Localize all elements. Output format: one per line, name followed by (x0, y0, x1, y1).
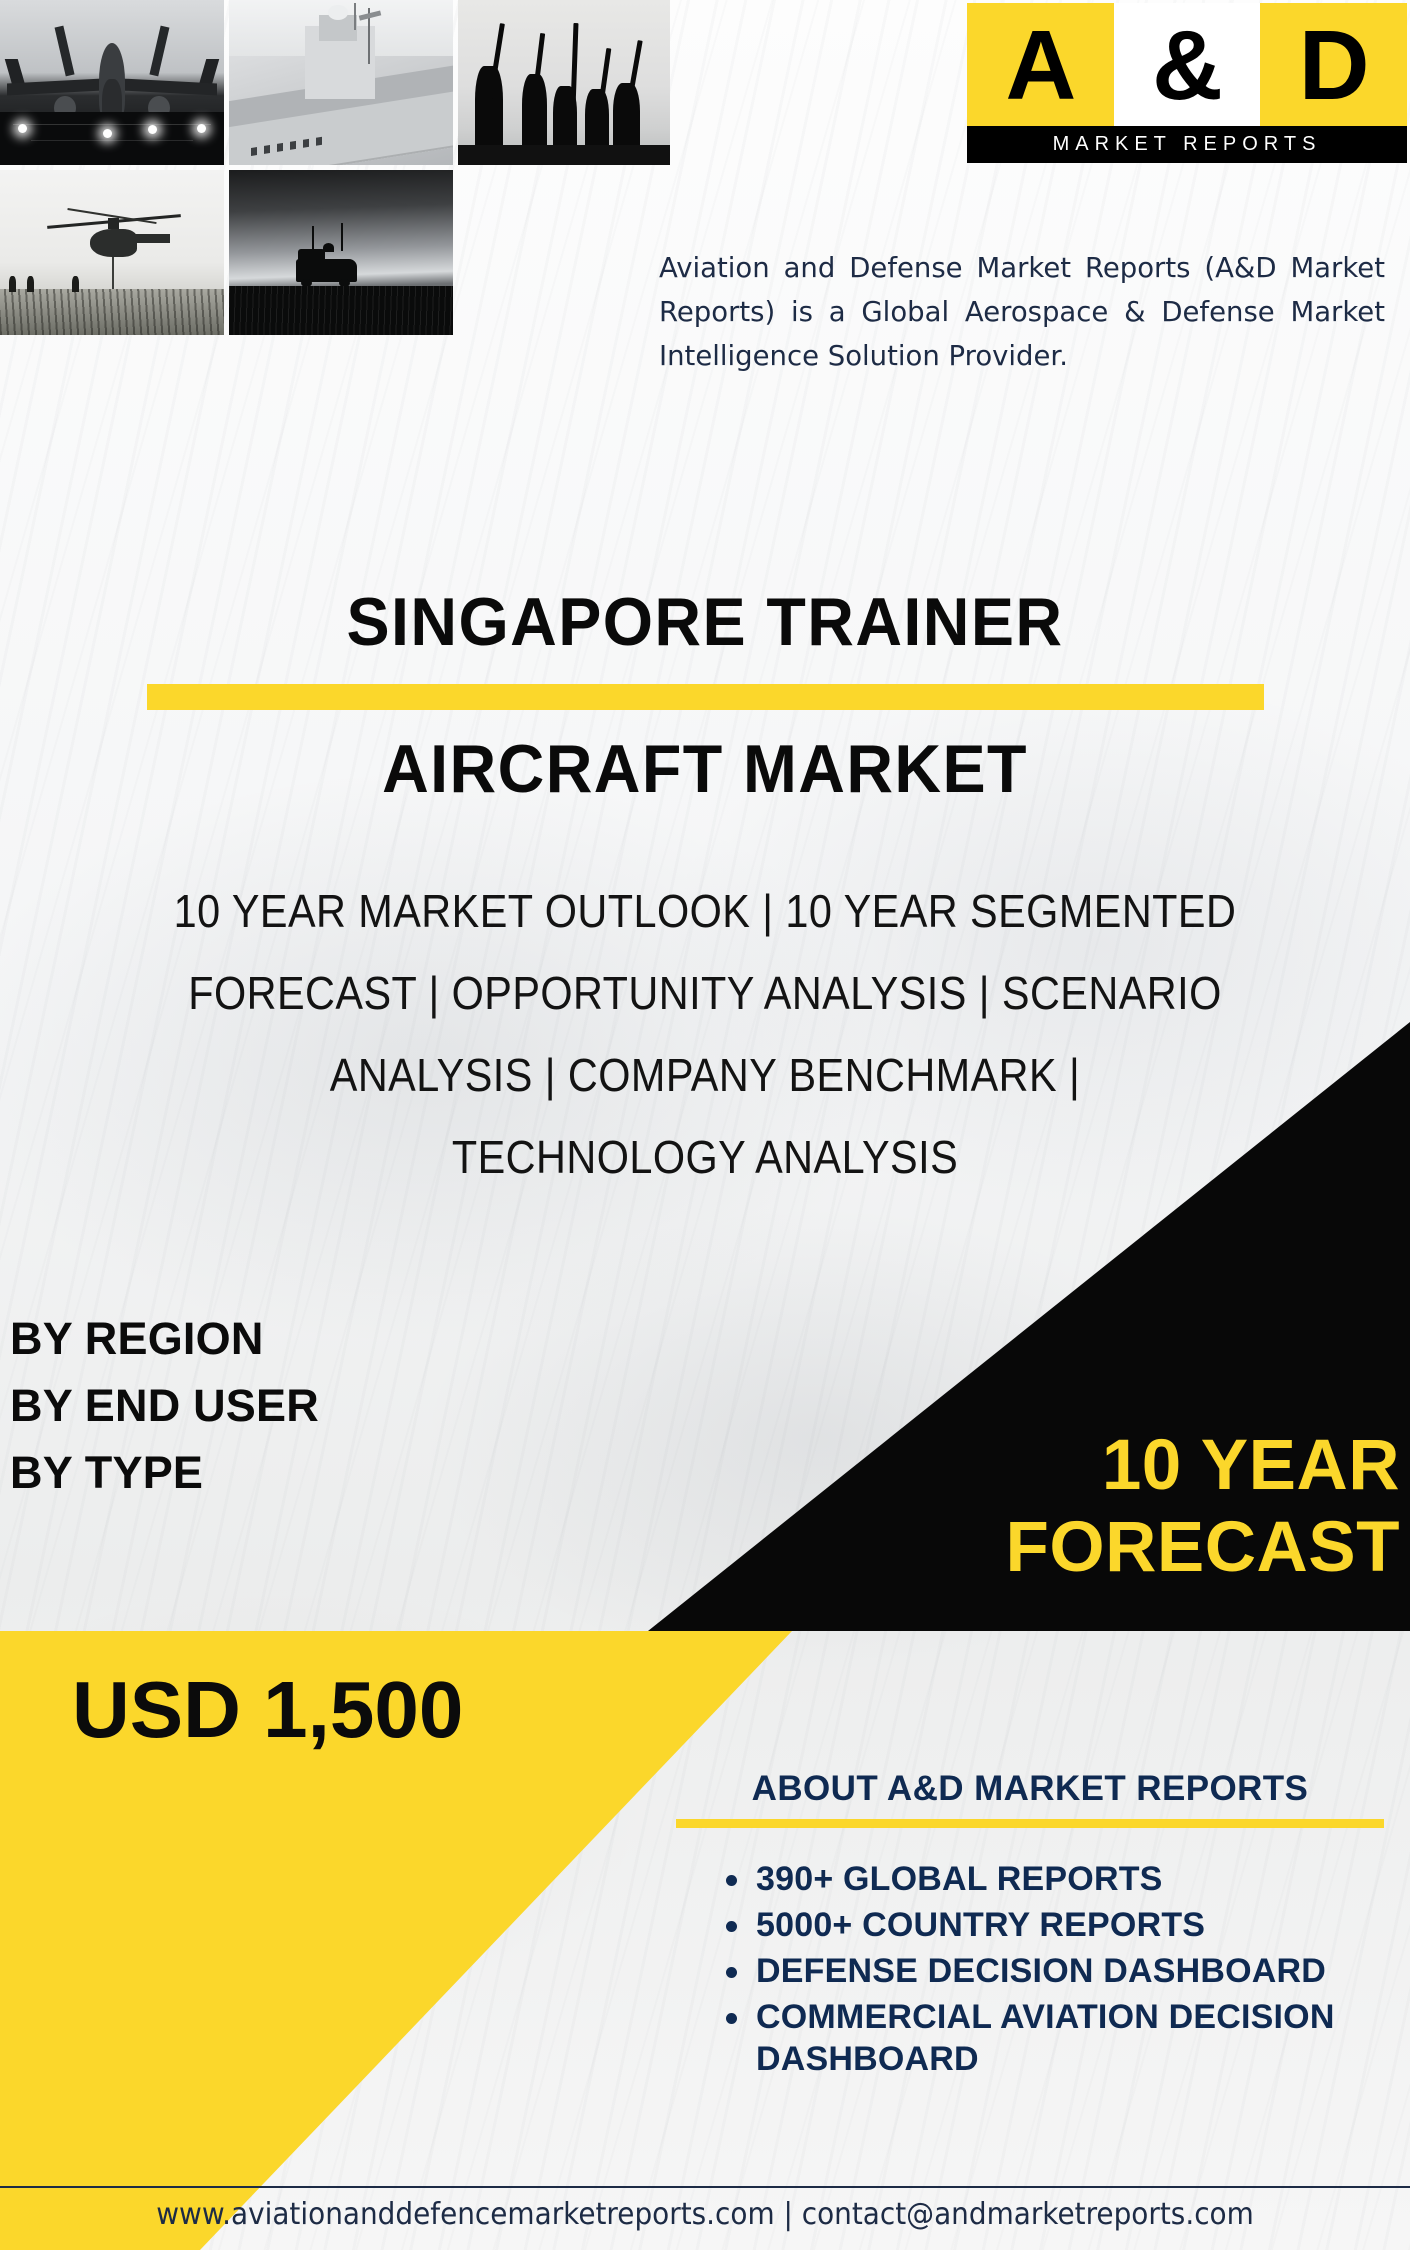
footer-divider (0, 2186, 1410, 2188)
segmentation-list: BY REGION BY END USER BY TYPE (10, 1305, 319, 1506)
about-heading: ABOUT A&D MARKET REPORTS (660, 1768, 1400, 1810)
report-title-line-1: SINGAPORE TRAINER (35, 585, 1375, 659)
segmentation-item-type: BY TYPE (10, 1439, 319, 1506)
logo-letter-ampersand: & (1114, 3, 1261, 126)
logo-letters: A & D (967, 3, 1407, 126)
about-item-global-reports: 390+ GLOBAL REPORTS (718, 1858, 1400, 1900)
brand-logo[interactable]: A & D MARKET REPORTS (967, 3, 1407, 163)
forecast-badge: 10 YEAR FORECAST (800, 1425, 1400, 1589)
about-item-commercial-dashboard: COMMERCIAL AVIATION DECISION DASHBOARD (718, 1996, 1400, 2080)
about-bullet-list: 390+ GLOBAL REPORTS 5000+ COUNTRY REPORT… (718, 1858, 1400, 2080)
about-heading-underline (676, 1819, 1384, 1828)
photo-aircraft-carrier (229, 0, 453, 165)
scope-line-2: FORECAST | OPPORTUNITY ANALYSIS | SCENAR… (107, 952, 1304, 1034)
report-scope-summary: 10 YEAR MARKET OUTLOOK | 10 YEAR SEGMENT… (107, 870, 1304, 1198)
company-description: Aviation and Defense Market Reports (A&D… (659, 246, 1385, 378)
forecast-line-1: 10 YEAR (800, 1425, 1400, 1507)
logo-letter-d: D (1260, 3, 1407, 126)
title-underline-bar (147, 684, 1264, 710)
about-item-defense-dashboard: DEFENSE DECISION DASHBOARD (718, 1950, 1400, 1992)
scope-line-4: TECHNOLOGY ANALYSIS (107, 1116, 1304, 1198)
photo-helicopter (0, 170, 224, 335)
photo-soldiers (458, 0, 670, 165)
segmentation-item-end-user: BY END USER (10, 1372, 319, 1439)
footer-contact[interactable]: www.aviationanddefencemarketreports.com … (49, 2192, 1360, 2238)
price-label: USD 1,500 (72, 1665, 463, 1755)
forecast-line-2: FORECAST (800, 1507, 1400, 1589)
logo-subtitle-bar: MARKET REPORTS (967, 126, 1407, 163)
scope-line-3: ANALYSIS | COMPANY BENCHMARK | (107, 1034, 1304, 1116)
scope-line-1: 10 YEAR MARKET OUTLOOK | 10 YEAR SEGMENT… (107, 870, 1304, 952)
about-item-country-reports: 5000+ COUNTRY REPORTS (718, 1904, 1400, 1946)
photo-armored-vehicle (229, 170, 453, 335)
report-title: SINGAPORE TRAINER AIRCRAFT MARKET (0, 585, 1410, 806)
segmentation-item-region: BY REGION (10, 1305, 319, 1372)
report-title-line-2: AIRCRAFT MARKET (35, 732, 1375, 806)
photo-strip (0, 0, 660, 335)
photo-fighter-jet (0, 0, 224, 165)
about-panel: ABOUT A&D MARKET REPORTS 390+ GLOBAL REP… (660, 1768, 1400, 2084)
logo-subtitle-text: MARKET REPORTS (1053, 133, 1322, 156)
logo-letter-a: A (967, 3, 1114, 126)
